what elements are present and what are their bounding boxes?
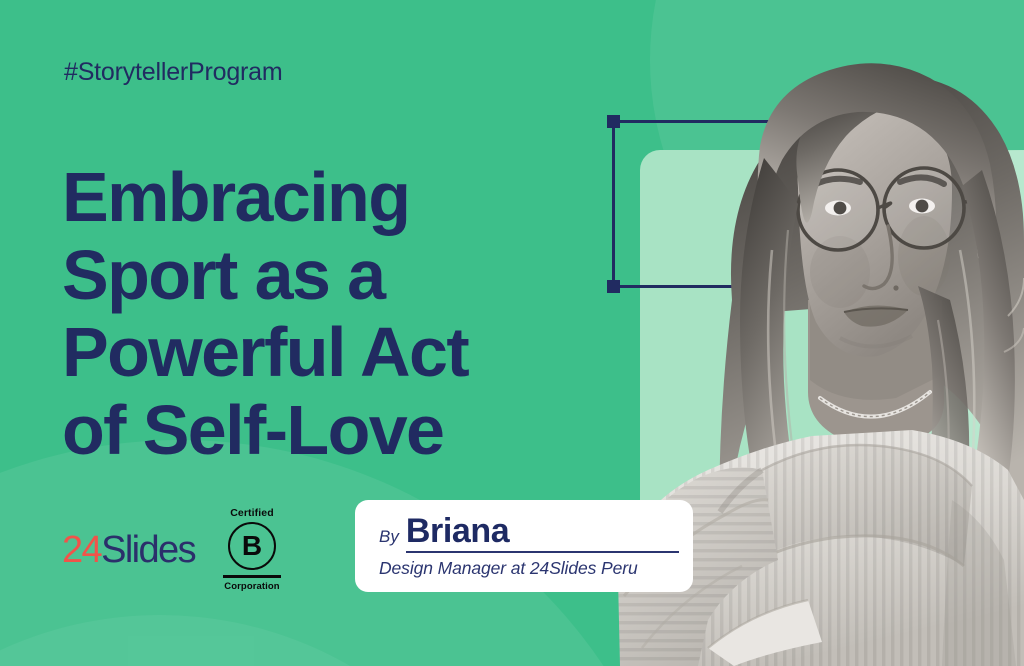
slide-canvas: #StorytellerProgram Embracing Sport as a… bbox=[0, 0, 1024, 666]
24slides-logo: 24Slides bbox=[62, 531, 195, 569]
hashtag-label: #StorytellerProgram bbox=[64, 58, 283, 87]
bcorp-b-mark: B bbox=[228, 522, 276, 570]
author-by-label: By bbox=[379, 527, 399, 547]
page-title: Embracing Sport as a Powerful Act of Sel… bbox=[62, 159, 632, 470]
24slides-logo-number: 24 bbox=[62, 529, 101, 571]
bcorp-certified-logo: Certified B Corporation bbox=[221, 508, 283, 591]
logo-row: 24Slides Certified B Corporation bbox=[62, 508, 283, 591]
author-name: Briana bbox=[406, 512, 509, 550]
author-name-line: By Briana bbox=[379, 514, 679, 553]
author-card: By Briana Design Manager at 24Slides Per… bbox=[355, 500, 693, 592]
author-role: Design Manager at 24Slides Peru bbox=[379, 558, 679, 579]
24slides-logo-word: Slides bbox=[101, 529, 195, 571]
bcorp-corporation-label: Corporation bbox=[224, 582, 279, 592]
author-name-underline: Briana bbox=[406, 514, 679, 553]
decorative-circle-bottom-left-inner bbox=[0, 615, 540, 666]
author-card-content: By Briana Design Manager at 24Slides Per… bbox=[379, 514, 679, 579]
bcorp-rule bbox=[223, 575, 281, 578]
bcorp-certified-label: Certified bbox=[230, 508, 274, 519]
